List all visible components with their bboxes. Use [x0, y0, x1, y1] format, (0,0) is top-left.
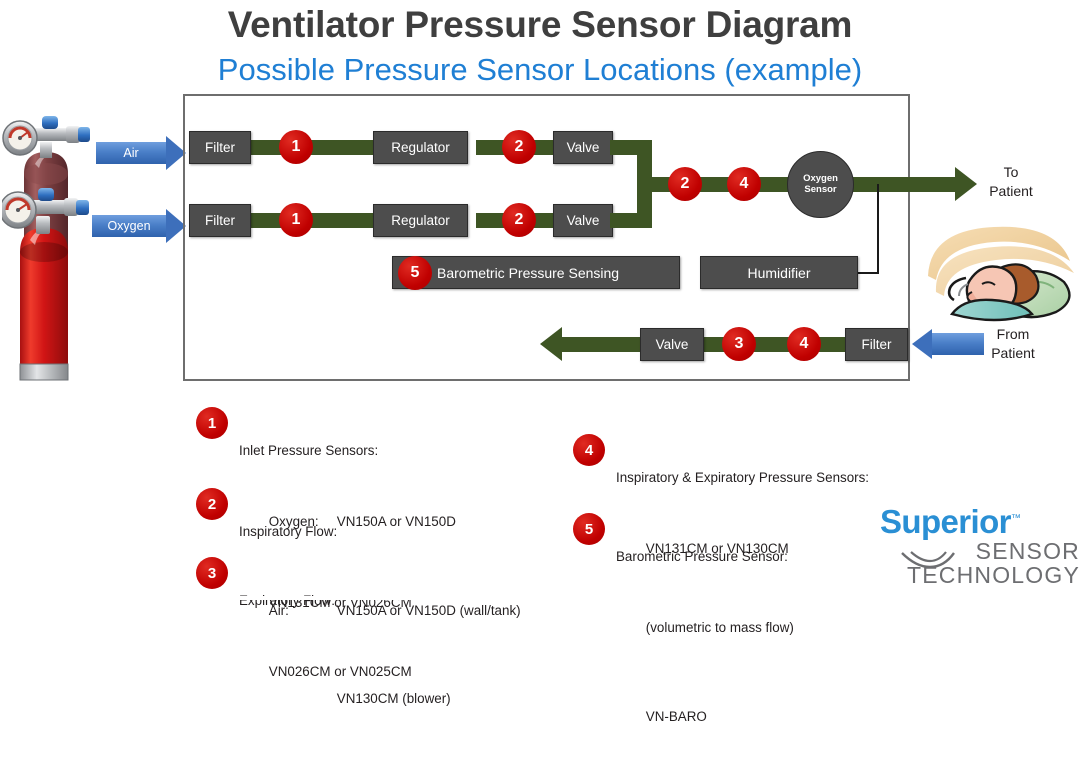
legend-text-3: Expiratory Flow: VN026CM or VN025CM	[239, 557, 412, 734]
legend-marker-2: 2	[196, 488, 228, 520]
box-oxygen-regulator[interactable]: Regulator	[373, 204, 468, 237]
bottom-strip	[0, 596, 1080, 600]
legend-5-row-1-value: VN-BARO	[646, 709, 707, 724]
box-air-filter[interactable]: Filter	[189, 131, 251, 164]
oxygen-sensor-node[interactable]: Oxygen Sensor	[787, 151, 854, 218]
box-return-valve[interactable]: Valve	[640, 328, 704, 361]
marker-merged-inspiratory-flow[interactable]: 2	[668, 167, 702, 201]
legend-text-5: Barometric Pressure Sensor: (volumetric …	[616, 513, 794, 778]
legend-marker-4: 4	[573, 434, 605, 466]
box-barometric-pressure-sensing[interactable]: Barometric Pressure Sensing	[392, 256, 680, 289]
diagram-canvas: Ventilator Pressure Sensor Diagram Possi…	[0, 0, 1080, 600]
logo-wave-icon	[900, 541, 956, 574]
legend-4-title: Inspiratory & Expiratory Pressure Sensor…	[616, 469, 869, 487]
marker-expiratory-pressure[interactable]: 4	[787, 327, 821, 361]
marker-air-inlet-pressure[interactable]: 1	[279, 130, 313, 164]
legend-2-title: Inspiratory Flow:	[239, 523, 412, 541]
arrow-exhaust-head	[540, 327, 562, 361]
inlet-arrow-oxygen-label: Oxygen	[92, 215, 166, 237]
legend-5-row-1: VN-BARO	[616, 690, 794, 743]
legend-5-row-0-value: (volumetric to mass flow)	[646, 620, 794, 635]
page-title: Ventilator Pressure Sensor Diagram	[0, 4, 1080, 46]
gas-cylinder-illustration	[2, 112, 107, 392]
inlet-arrow-air-label: Air	[96, 142, 166, 164]
logo-superior-text: Superior	[880, 503, 1011, 540]
legend-3-row-0-value: VN026CM or VN025CM	[269, 664, 412, 679]
legend-5-row-0: (volumetric to mass flow)	[616, 601, 794, 654]
box-air-regulator[interactable]: Regulator	[373, 131, 468, 164]
patient-illustration	[912, 222, 1080, 330]
superior-sensor-technology-logo: Superior™ SENSOR TECHNOLOGY	[880, 505, 1080, 587]
humidifier-connector-horizontal	[857, 272, 879, 274]
humidifier-connector-vertical	[877, 184, 879, 274]
legend-marker-5: 5	[573, 513, 605, 545]
box-oxygen-valve[interactable]: Valve	[553, 204, 613, 237]
inlet-arrow-air: Air	[96, 136, 186, 170]
from-patient-arrow-head	[912, 329, 932, 359]
box-humidifier[interactable]: Humidifier	[700, 256, 858, 289]
logo-trademark: ™	[1011, 513, 1020, 524]
from-patient-label: From Patient	[968, 325, 1058, 363]
marker-merged-inspiratory-pressure[interactable]: 4	[727, 167, 761, 201]
legend-3-row-0: VN026CM or VN025CM	[239, 645, 412, 698]
box-return-filter[interactable]: Filter	[845, 328, 908, 361]
from-patient-label-line2: Patient	[968, 344, 1058, 363]
marker-barometric-pressure[interactable]: 5	[398, 256, 432, 290]
legend-marker-3: 3	[196, 557, 228, 589]
oxygen-sensor-label-line2: Sensor	[804, 185, 836, 196]
barometric-label: Barometric Pressure Sensing	[437, 265, 619, 281]
legend-item-5: 5 Barometric Pressure Sensor: (volumetri…	[573, 513, 794, 778]
oxygen-sensor-label-line1: Oxygen	[803, 174, 838, 185]
page-subtitle: Possible Pressure Sensor Locations (exam…	[0, 52, 1080, 88]
legend-1-title: Inlet Pressure Sensors:	[239, 442, 521, 460]
marker-oxygen-inspiratory-flow[interactable]: 2	[502, 203, 536, 237]
box-oxygen-filter[interactable]: Filter	[189, 204, 251, 237]
to-patient-label-line1: To	[966, 163, 1056, 182]
logo-superior-wordmark: Superior™	[880, 505, 1080, 538]
to-patient-label-line2: Patient	[966, 182, 1056, 201]
legend-5-title: Barometric Pressure Sensor:	[616, 548, 794, 566]
marker-oxygen-inlet-pressure[interactable]: 1	[279, 203, 313, 237]
marker-expiratory-flow[interactable]: 3	[722, 327, 756, 361]
inlet-arrow-oxygen: Oxygen	[92, 209, 186, 243]
legend-item-3: 3 Expiratory Flow: VN026CM or VN025CM	[196, 557, 412, 734]
marker-air-inspiratory-flow[interactable]: 2	[502, 130, 536, 164]
box-air-valve[interactable]: Valve	[553, 131, 613, 164]
to-patient-label: To Patient	[966, 163, 1056, 201]
legend-marker-1: 1	[196, 407, 228, 439]
